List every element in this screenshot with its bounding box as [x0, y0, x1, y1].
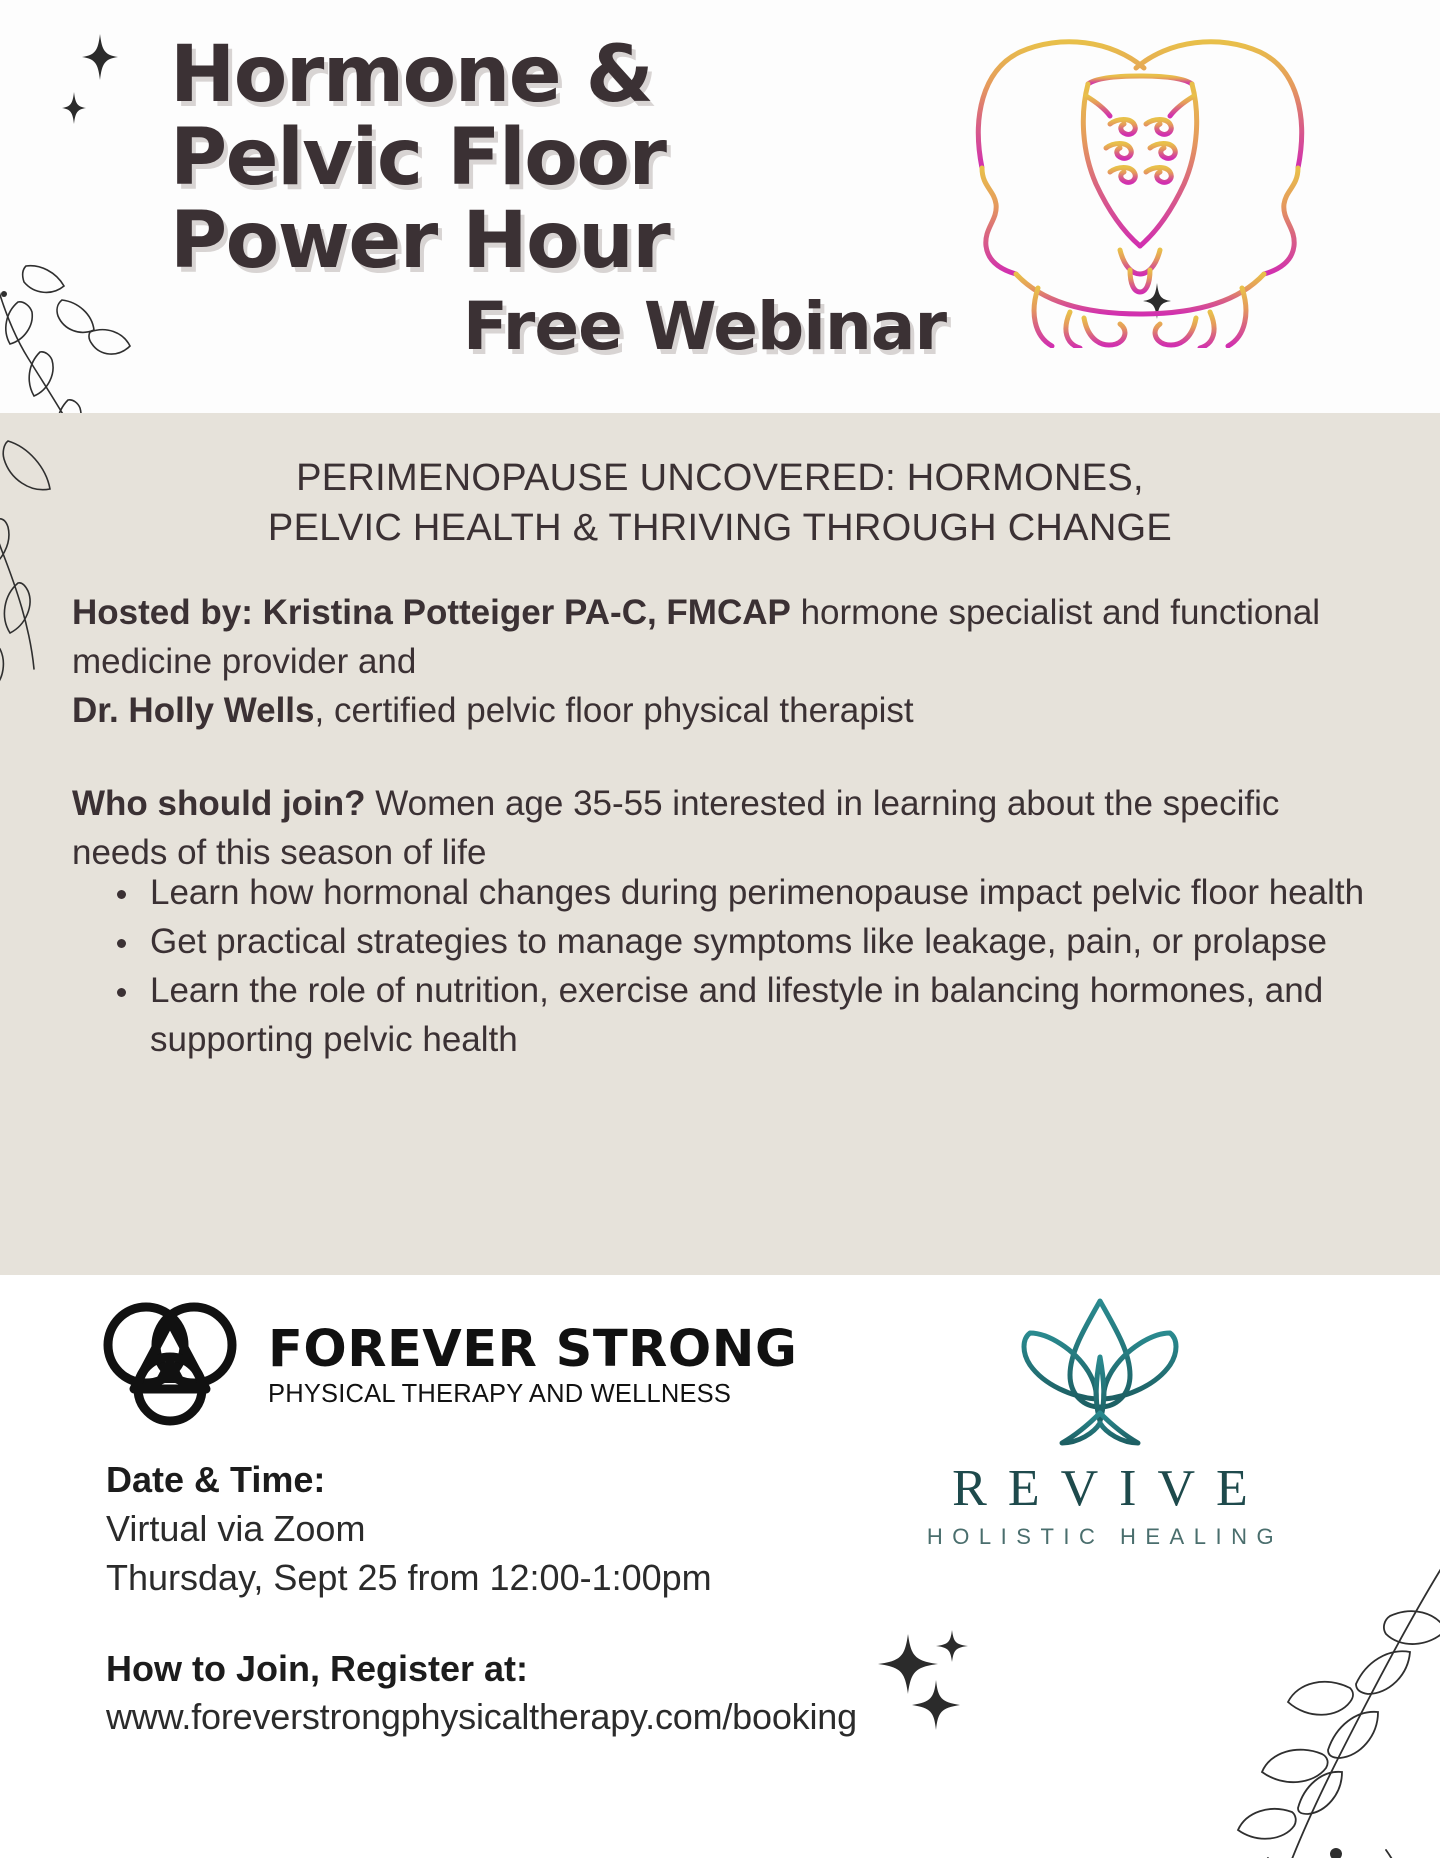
audience-paragraph: Who should join? Women age 35-55 interes… [72, 779, 1372, 877]
lotus-leaf-logo-icon [1000, 1295, 1200, 1455]
sparkle-cluster-icon [876, 1622, 986, 1732]
benefits-list: Learn how hormonal changes during perime… [96, 868, 1386, 1064]
header-section: Hormone & Pelvic Floor Power Hour Free W… [0, 0, 1440, 413]
date-time-heading: Date & Time: [106, 1455, 946, 1504]
forever-strong-logo: FOREVER STRONG PHYSICAL THERAPY AND WELL… [100, 1297, 860, 1422]
list-item: Get practical strategies to manage sympt… [150, 917, 1386, 966]
footer-section: FOREVER STRONG PHYSICAL THERAPY AND WELL… [0, 1275, 1440, 1858]
page-title-line-1: Hormone & [170, 34, 970, 117]
date-time-line-2: Thursday, Sept 25 from 12:00-1:00pm [106, 1553, 946, 1602]
revive-name: REVIVE [900, 1459, 1300, 1519]
spacer [72, 735, 1372, 779]
host2-label: Dr. Holly Wells [72, 691, 315, 730]
infinity-triangle-logo-icon [100, 1297, 240, 1427]
register-heading: How to Join, Register at: [106, 1644, 946, 1693]
revive-tagline: HOLISTIC HEALING [900, 1523, 1300, 1551]
host2-rest: , certified pelvic floor physical therap… [315, 691, 914, 730]
forever-strong-name: FOREVER STRONG [268, 1323, 797, 1377]
forever-strong-wordmark: FOREVER STRONG PHYSICAL THERAPY AND WELL… [268, 1323, 797, 1409]
webinar-topic: PERIMENOPAUSE UNCOVERED: HORMONES, PELVI… [0, 453, 1440, 553]
page-subtitle: Free Webinar [170, 289, 970, 365]
audience-label: Who should join? [72, 784, 366, 823]
date-time-line-1: Virtual via Zoom [106, 1504, 946, 1553]
webinar-topic-line-2: PELVIC HEALTH & THRIVING THROUGH CHANGE [0, 503, 1440, 553]
event-details: Date & Time: Virtual via Zoom Thursday, … [106, 1455, 946, 1741]
forever-strong-tagline: PHYSICAL THERAPY AND WELLNESS [268, 1379, 797, 1409]
body-section: PERIMENOPAUSE UNCOVERED: HORMONES, PELVI… [0, 413, 1440, 1275]
floral-branch-decoration [1150, 1558, 1440, 1858]
spacer [106, 1602, 946, 1644]
hosted-by-paragraph: Hosted by: Kristina Potteiger PA-C, FMCA… [72, 588, 1372, 735]
list-item: Learn the role of nutrition, exercise an… [150, 966, 1386, 1064]
pelvis-bone-illustration [920, 18, 1360, 348]
hosts-and-audience: Hosted by: Kristina Potteiger PA-C, FMCA… [72, 588, 1372, 877]
revive-logo: REVIVE HOLISTIC HEALING [900, 1295, 1300, 1555]
sparkle-icon [82, 34, 118, 80]
webinar-topic-line-1: PERIMENOPAUSE UNCOVERED: HORMONES, [0, 453, 1440, 503]
list-item: Learn how hormonal changes during perime… [150, 868, 1386, 917]
register-url[interactable]: www.foreverstrongphysicaltherapy.com/boo… [106, 1693, 946, 1741]
page-title-line-3: Power Hour [170, 200, 970, 283]
title-block: Hormone & Pelvic Floor Power Hour Free W… [170, 34, 970, 365]
sparkle-icon [62, 92, 86, 124]
flyer-page: Hormone & Pelvic Floor Power Hour Free W… [0, 0, 1440, 1858]
page-title-line-2: Pelvic Floor [170, 117, 970, 200]
hosted-by-label: Hosted by: Kristina Potteiger PA-C, FMCA… [72, 593, 791, 632]
